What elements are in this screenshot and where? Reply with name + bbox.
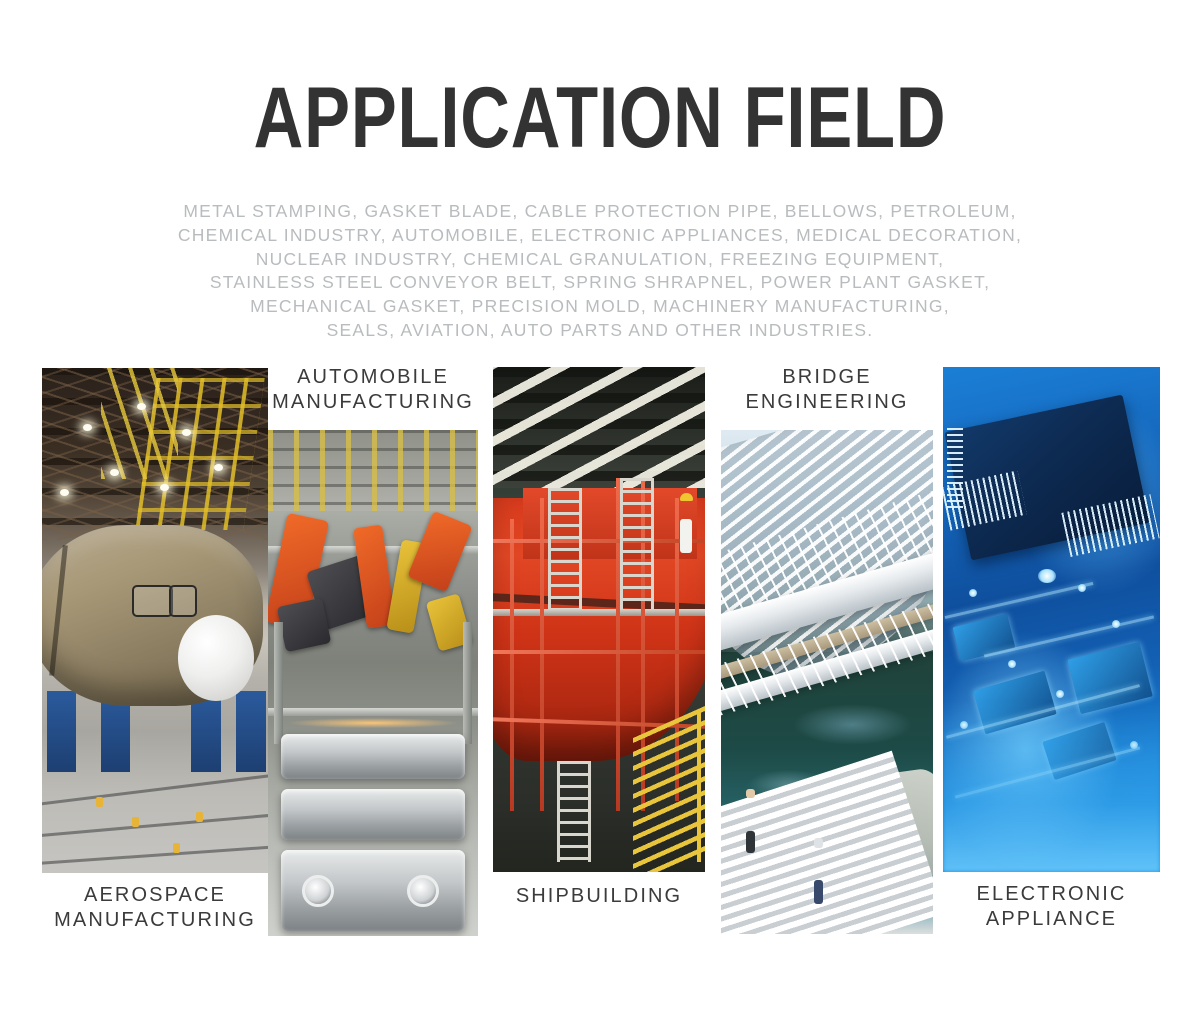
subtitle-line-6: SEALS, AVIATION, AUTO PARTS AND OTHER IN…: [0, 319, 1200, 343]
caption-bridge-line2: ENGINEERING: [697, 390, 957, 415]
caption-aerospace-line1: AEROSPACE: [18, 883, 292, 908]
photo-automobile-manufacturing: [268, 430, 478, 936]
caption-bridge-line1: BRIDGE: [697, 365, 957, 390]
subtitle-block: METAL STAMPING, GASKET BLADE, CABLE PROT…: [0, 200, 1200, 343]
subtitle-line-1: METAL STAMPING, GASKET BLADE, CABLE PROT…: [0, 200, 1200, 224]
subtitle-line-5: MECHANICAL GASKET, PRECISION MOLD, MACHI…: [0, 295, 1200, 319]
panel-bridge[interactable]: BRIDGE ENGINEERING: [721, 430, 933, 934]
caption-electronic-line2: APPLIANCE: [919, 907, 1184, 932]
application-field-poster: APPLICATION FIELD METAL STAMPING, GASKET…: [0, 0, 1200, 1017]
caption-electronic-line1: ELECTRONIC: [919, 882, 1184, 907]
panel-automobile[interactable]: AUTOMOBILE MANUFACTURING: [268, 430, 478, 936]
caption-shipbuilding: SHIPBUILDING: [469, 884, 729, 909]
caption-aerospace-line2: MANUFACTURING: [18, 908, 292, 933]
photo-bridge-engineering: [721, 430, 933, 934]
caption-automobile-line2: MANUFACTURING: [244, 390, 502, 415]
photo-shipbuilding: [493, 367, 705, 872]
caption-aerospace: AEROSPACE MANUFACTURING: [18, 883, 292, 933]
caption-automobile-line1: AUTOMOBILE: [244, 365, 502, 390]
page-title: APPLICATION FIELD: [120, 72, 1080, 164]
panel-shipbuilding[interactable]: SHIPBUILDING: [493, 367, 705, 872]
subtitle-line-2: CHEMICAL INDUSTRY, AUTOMOBILE, ELECTRONI…: [0, 224, 1200, 248]
subtitle-line-4: STAINLESS STEEL CONVEYOR BELT, SPRING SH…: [0, 271, 1200, 295]
caption-automobile: AUTOMOBILE MANUFACTURING: [244, 365, 502, 415]
subtitle-line-3: NUCLEAR INDUSTRY, CHEMICAL GRANULATION, …: [0, 248, 1200, 272]
photo-electronic-appliance: [943, 367, 1160, 872]
panel-electronic[interactable]: ELECTRONIC APPLIANCE: [943, 367, 1160, 872]
caption-electronic: ELECTRONIC APPLIANCE: [919, 882, 1184, 932]
panel-aerospace[interactable]: AEROSPACE MANUFACTURING: [42, 368, 268, 873]
caption-bridge: BRIDGE ENGINEERING: [697, 365, 957, 415]
photo-aerospace-manufacturing: [42, 368, 268, 873]
caption-shipbuilding-line1: SHIPBUILDING: [469, 884, 729, 909]
